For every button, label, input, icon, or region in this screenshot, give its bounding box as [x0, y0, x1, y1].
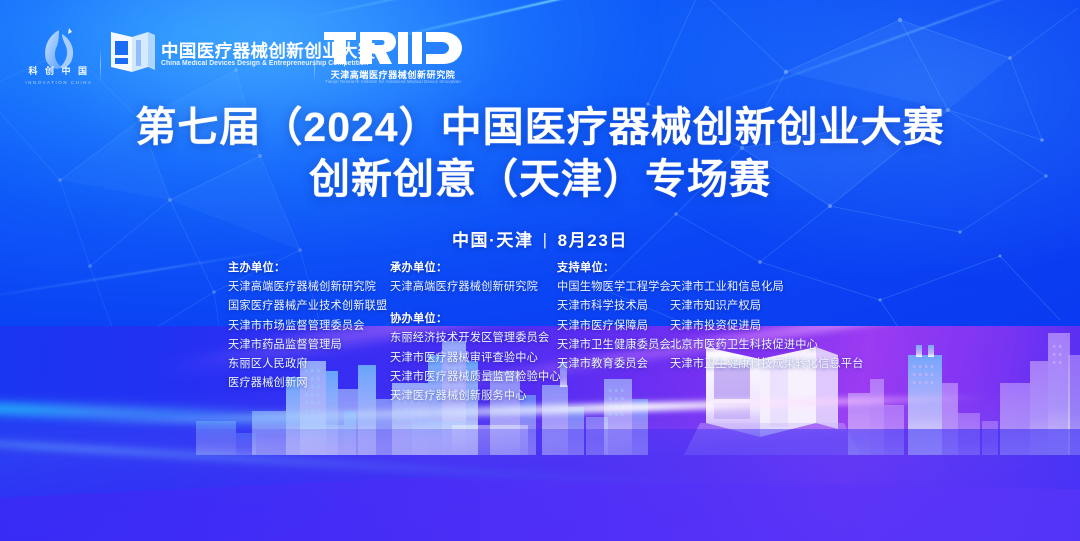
- organizer-item: 天津市医疗保障局: [557, 317, 671, 336]
- organizers-heading: 协办单位：: [390, 310, 561, 326]
- organizers-block: 主办单位： 天津高端医疗器械创新研究院 国家医疗器械产业技术创新联盟 天津市市场…: [0, 259, 1080, 379]
- organizers-heading: 主办单位：: [228, 259, 387, 275]
- triid-logo: 天津高端医疗器械创新研究院 Tianjin Research Institute…: [322, 26, 472, 88]
- organizer-item: 天津高端医疗器械创新研究院: [390, 278, 561, 297]
- organizers-column-supporters-a: 支持单位： 中国生物医学工程学会 天津市科学技术局 天津市医疗保障局 天津市卫生…: [557, 259, 671, 374]
- poster-title: 第七届（2024）中国医疗器械创新创业大赛 创新创意（天津）专场赛: [0, 104, 1080, 203]
- innovation-china-logo: 科 创 中 国 INNOVATION CHINA: [22, 26, 96, 86]
- organizer-item: 天津市科学技术局: [557, 297, 671, 316]
- organizers-column-supporters-b: 天津市工业和信息化局 天津市知识产权局 天津市投资促进局 北京市医药卫生科技促进…: [670, 278, 864, 374]
- organizer-item: 天津高端医疗器械创新研究院: [228, 278, 387, 297]
- organizer-item: 天津市投资促进局: [670, 317, 864, 336]
- organizer-item: 天津市工业和信息化局: [670, 278, 864, 297]
- logo-bar: 科 创 中 国 INNOVATION CHINA 中国医疗器械创新创业大赛 Ch…: [0, 22, 480, 88]
- poster-canvas: 科 创 中 国 INNOVATION CHINA 中国医疗器械创新创业大赛 Ch…: [0, 0, 1080, 541]
- organizer-item: 天津市卫生健康委员会: [557, 336, 671, 355]
- competition-open-book-icon: [108, 24, 158, 78]
- triid-wordmark-icon: [322, 26, 464, 68]
- title-line-2: 创新创意（天津）专场赛: [0, 156, 1080, 204]
- innovation-china-name-en: INNOVATION CHINA: [22, 80, 96, 85]
- triid-name-en: Tianjin Research Institute for Advanced …: [322, 79, 464, 84]
- organizer-item: 天津市药品监督管理局: [228, 336, 387, 355]
- organizer-item: 天津市市场监督管理委员会: [228, 317, 387, 336]
- organizer-item: 中国生物医学工程学会: [557, 278, 671, 297]
- organizer-item: 东丽经济技术开发区管理委员会: [390, 329, 561, 348]
- organizer-item: 天津市医疗器械质量监督检验中心: [390, 368, 561, 387]
- organizer-item: 天津市医疗器械审评查验中心: [390, 349, 561, 368]
- organizer-item: 天津医疗器械创新服务中心: [390, 387, 561, 406]
- innovation-china-name-cn: 科 创 中 国: [22, 64, 96, 77]
- date-separator: |: [543, 230, 549, 250]
- organizers-heading: 承办单位：: [390, 259, 561, 275]
- column-spacer: [390, 297, 561, 310]
- logo-divider: [100, 48, 101, 82]
- organizer-item: 东丽区人民政府: [228, 355, 387, 374]
- organizer-item: 天津市知识产权局: [670, 297, 864, 316]
- organizer-item: 天津市卫生健康科技成果转化信息平台: [670, 355, 864, 374]
- organizer-item: 国家医疗器械产业技术创新联盟: [228, 297, 387, 316]
- title-line-1: 第七届（2024）中国医疗器械创新创业大赛: [0, 104, 1080, 152]
- organizer-item: 天津市教育委员会: [557, 355, 671, 374]
- organizer-item: 医疗器械创新网: [228, 374, 387, 393]
- organizers-column-host: 主办单位： 天津高端医疗器械创新研究院 国家医疗器械产业技术创新联盟 天津市市场…: [228, 259, 387, 394]
- date-location-line: 中国·天津|8月23日: [0, 226, 1080, 251]
- logo-divider: [314, 48, 315, 82]
- event-date: 8月23日: [558, 231, 628, 250]
- organizer-item: 北京市医药卫生科技促进中心: [670, 336, 864, 355]
- organizers-column-undertaker: 承办单位： 天津高端医疗器械创新研究院 协办单位： 东丽经济技术开发区管理委员会…: [390, 259, 561, 406]
- event-location: 中国·天津: [452, 231, 534, 250]
- competition-logo: 中国医疗器械创新创业大赛 China Medical Devices Desig…: [108, 24, 308, 86]
- organizers-heading: 支持单位：: [557, 259, 671, 275]
